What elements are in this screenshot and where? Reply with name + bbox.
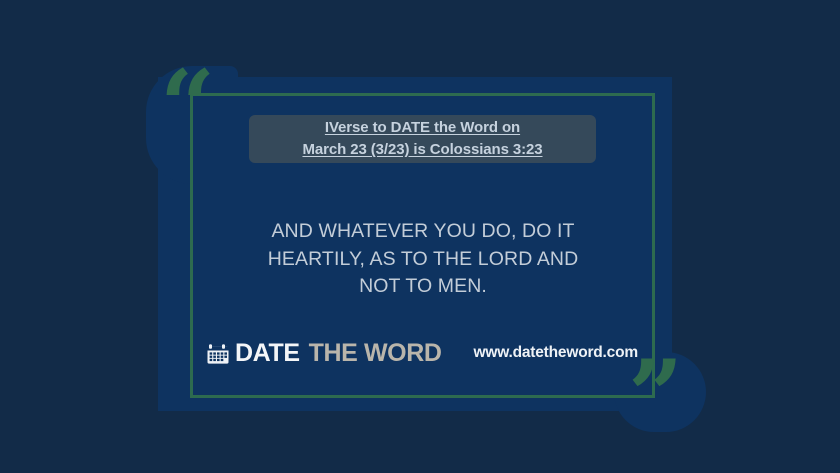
slide-canvas: “ ” IVerse to DATE the Word on March 23 … — [0, 0, 840, 473]
calendar-icon — [206, 340, 232, 366]
opening-quote-icon: “ — [160, 58, 215, 154]
verse-title-plate: IVerse to DATE the Word on March 23 (3/2… — [249, 115, 596, 163]
logo-text-date: DATE — [235, 341, 300, 366]
website-url[interactable]: www.datetheword.com — [474, 345, 638, 362]
verse-title-text: IVerse to DATE the Word on March 23 (3/2… — [302, 117, 542, 161]
verse-body-text: AND WHATEVER YOU DO, DO IT HEARTILY, AS … — [218, 218, 628, 301]
footer-branding-row: DATE THE WORD www.datetheword.com — [206, 340, 638, 366]
logo-text-the-word: THE WORD — [309, 341, 442, 366]
